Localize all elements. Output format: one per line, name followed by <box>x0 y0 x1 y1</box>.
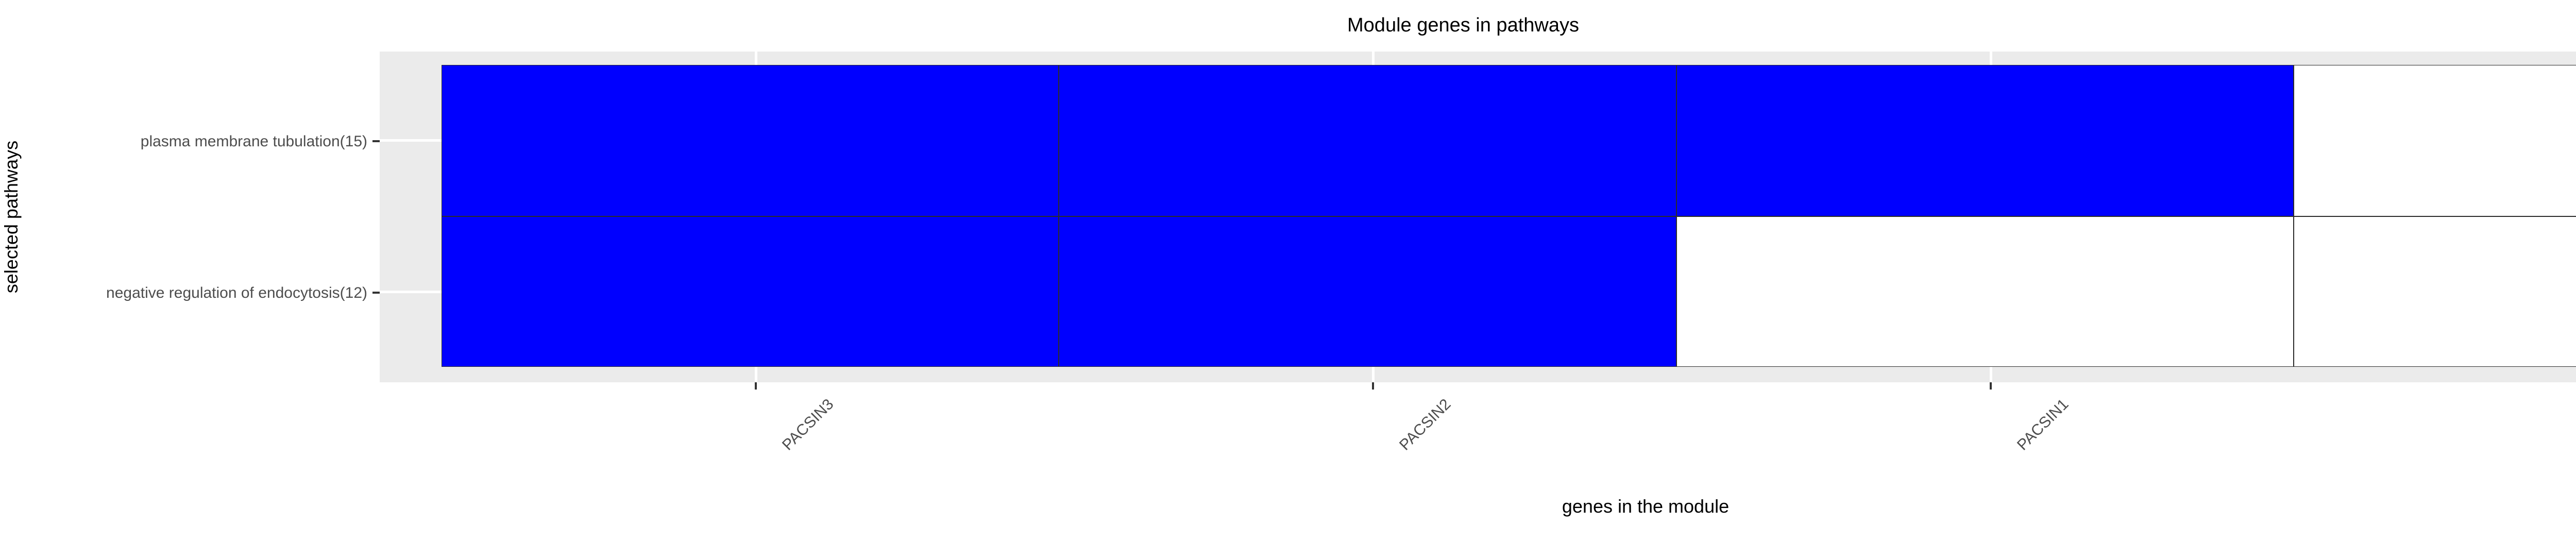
heatmap-cell-r2-c1[interactable] <box>442 216 1059 367</box>
heatmap-cell-r1-c1[interactable] <box>442 65 1059 216</box>
page-title: Module genes in pathways <box>0 14 2576 37</box>
x-axis-title: genes in the module <box>380 496 2576 517</box>
x-tick-label-pacsin3: PACSIN3 <box>779 396 837 454</box>
heatmap-cell-r1-c4[interactable] <box>2294 65 2576 216</box>
x-tick-mark-pacsin3 <box>755 382 757 390</box>
x-tick-label-pacsin1: PACSIN1 <box>2014 396 2072 454</box>
heatmap-cell-r2-c4[interactable] <box>2294 216 2576 367</box>
heatmap-cell-r2-c3[interactable] <box>1676 216 2294 367</box>
y-axis-tick-labels: plasma membrane tubulation(15) negative … <box>0 0 367 541</box>
y-tick-label-plasma-membrane-tubulation: plasma membrane tubulation(15) <box>141 133 367 150</box>
heatmap-tiles <box>442 65 2576 367</box>
heatmap-cell-r1-c2[interactable] <box>1059 65 1676 216</box>
y-tick-mark-row-1 <box>372 140 380 142</box>
x-tick-mark-pacsin1 <box>1990 382 1992 390</box>
heatmap-cell-r2-c2[interactable] <box>1059 216 1676 367</box>
y-tick-label-negative-regulation-of-endocytosis: negative regulation of endocytosis(12) <box>106 284 367 302</box>
y-tick-mark-row-2 <box>372 292 380 294</box>
x-tick-label-pacsin2: PACSIN2 <box>1396 396 1454 454</box>
x-tick-mark-pacsin2 <box>1372 382 1374 390</box>
heatmap-cell-r1-c3[interactable] <box>1676 65 2294 216</box>
